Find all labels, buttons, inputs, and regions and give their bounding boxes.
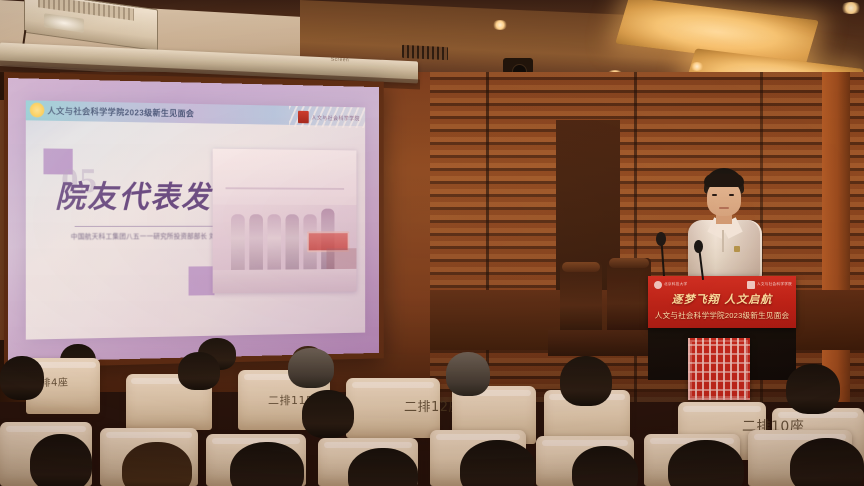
photo-person	[231, 214, 245, 274]
sun-icon	[30, 102, 45, 117]
audience-head	[560, 356, 612, 406]
slide-logo: 人文与社会科学学院	[298, 110, 360, 125]
presentation-slide: 人文与社会科学学院2023级新生见面会 人文与社会科学学院 05 院友代表发言 …	[26, 100, 365, 339]
ceiling-air-vent	[402, 45, 448, 60]
audience-head	[786, 364, 840, 414]
banner-headline: 逐梦飞翔 人文启航	[648, 292, 796, 308]
photo-person	[267, 214, 281, 273]
speaker-mouth	[719, 207, 729, 209]
audience-head	[668, 440, 744, 486]
audience-head	[288, 348, 334, 388]
photo-ceiling	[213, 149, 357, 205]
banner-logo-left: 北京科技大学	[654, 280, 694, 289]
photo-floor	[213, 269, 357, 293]
speaker-shirt-logo-icon	[734, 246, 740, 252]
audience-head	[0, 356, 44, 400]
university-emblem-icon	[654, 281, 662, 289]
slide-title: 院友代表发言	[55, 174, 225, 220]
podium-microphone-icon	[694, 240, 703, 253]
university-logo-icon	[298, 111, 309, 124]
ceiling-spotlight-3	[840, 2, 862, 14]
banner-logo-right-text: 人文与社会科学学院	[757, 282, 792, 287]
audience-area: 一排4座 二排11座 二排12座 二排10座	[0, 330, 864, 486]
microphone-icon	[656, 232, 666, 246]
speaker-placket	[722, 230, 724, 252]
projection-screen: 人文与社会科学学院2023级新生见面会 人文与社会科学学院 05 院友代表发言 …	[8, 78, 379, 362]
slide-divider	[75, 226, 217, 227]
banner-logo-right: 人文与社会科学学院	[740, 280, 792, 289]
ceiling-spotlight-1	[492, 20, 508, 30]
audience-head	[302, 390, 354, 438]
speaker-person	[686, 168, 764, 286]
speaker-hair-fringe	[704, 174, 744, 187]
photo-person	[285, 214, 298, 273]
ceiling-spotlight-4	[690, 62, 704, 71]
speaker-eye-right	[729, 194, 734, 196]
college-emblem-icon	[747, 281, 755, 289]
speaker-eye-left	[712, 194, 717, 196]
stage-chair-left	[560, 262, 602, 334]
audience-head	[790, 438, 864, 486]
banner-logo-left-text: 北京科技大学	[664, 282, 687, 287]
audience-head	[122, 442, 192, 486]
audience-head	[178, 352, 220, 390]
audience-head	[446, 352, 490, 396]
slide-accent-square-2	[189, 266, 215, 295]
slide-group-photo	[213, 149, 357, 294]
screenshot-root: Screen 人文与社会科学学院2023级新生见面会 人文与社会科学学院 05 …	[0, 0, 864, 486]
stage-chair-left-back	[562, 262, 600, 272]
slide-logo-text: 人文与社会科学学院	[311, 113, 359, 121]
banner-subline: 人文与社会科学学院2023级新生见面会	[648, 309, 796, 322]
stage-chair-right-back	[609, 258, 649, 268]
photo-person	[249, 214, 263, 273]
audience-head	[460, 440, 536, 486]
stage-chair-right	[607, 258, 651, 334]
audience-head	[30, 434, 92, 486]
